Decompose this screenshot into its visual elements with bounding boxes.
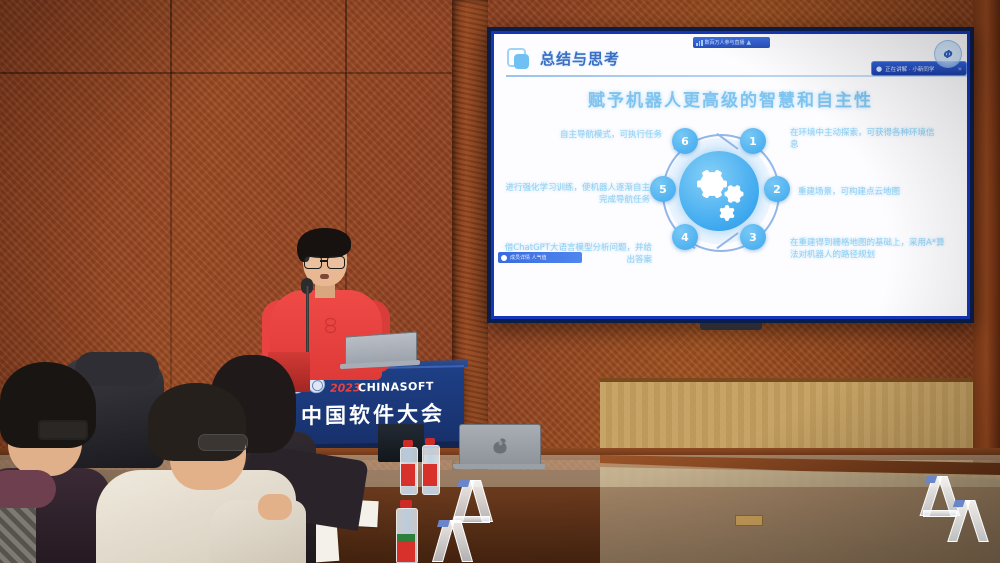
podium-year: 2023: [330, 381, 361, 395]
water-bottle: [422, 438, 438, 494]
broadcast-logo-icon: Φ: [934, 40, 962, 68]
podium-english-title: CHINASOFT: [358, 380, 434, 395]
audience-person-2-hand: [258, 494, 292, 520]
back-wall-trim: [600, 378, 1000, 382]
name-card-holder: [450, 480, 492, 522]
chevron-right-icon[interactable]: »: [958, 65, 962, 73]
avatar: [501, 255, 507, 261]
audience-person-1-scarf: [0, 470, 56, 508]
mic-icon: ●: [876, 65, 882, 73]
live-viewer-label: 数百万人参与直播: [705, 39, 745, 46]
member-info-badge[interactable]: 成员详情 人气值: [498, 252, 582, 263]
slide-main-title: 赋予机器人更高级的智慧和自主性: [494, 86, 967, 111]
wall-pillar-right: [973, 0, 1000, 470]
presentation-display: 总结与思考 赋予机器人更高级的智慧和自主性 自主导航模式，可执行任务 进行强化学…: [487, 27, 974, 323]
bar-chart-icon: [696, 40, 703, 46]
audience-person-2-glasses: [198, 434, 248, 451]
circular-process-diagram: 1 2 3 4 5 6: [654, 126, 784, 256]
callout-text-1: 在环境中主动探索，可获得各种环境信息: [790, 127, 940, 151]
water-bottle: [396, 500, 416, 563]
speaker-glasses: [303, 256, 347, 268]
gears-icon: [697, 169, 727, 199]
gear-small-icon: [725, 185, 743, 203]
callout-text-6: 自主导航模式，可执行任务: [512, 129, 662, 141]
diagram-node-1[interactable]: 1: [740, 128, 766, 154]
diagram-node-4[interactable]: 4: [672, 224, 698, 250]
shirt-logo-icon: [325, 318, 334, 332]
slide-surface: 总结与思考 赋予机器人更高级的智慧和自主性 自主导航模式，可执行任务 进行强化学…: [494, 34, 967, 316]
callout-text-5: 进行强化学习训练，使机器人逐渐自主完成导航任务: [502, 182, 650, 206]
callout-text-3: 在重建得到栅格地图的基础上，采用A*算法对机器人的路径规划: [790, 237, 946, 261]
now-speaking-label: 正在讲解 · 小新同学: [885, 65, 934, 73]
podium-chinese-title: 中国软件大会: [282, 397, 464, 431]
table-plaque: [735, 515, 763, 526]
name-card-holder: [948, 500, 988, 544]
display-stand: [700, 323, 762, 330]
slide-header-title: 总结与思考: [540, 48, 620, 69]
audience-person-1-glasses: [38, 420, 88, 440]
display-bezel: 总结与思考 赋予机器人更高级的智慧和自主性 自主导航模式，可执行任务 进行强化学…: [491, 31, 970, 319]
live-viewer-badge[interactable]: 数百万人参与直播 ▲: [693, 37, 770, 48]
share-icon[interactable]: ▲: [747, 39, 752, 46]
name-card-holder: [430, 520, 472, 563]
apple-logo-icon: [494, 439, 507, 454]
diagram-node-3[interactable]: 3: [740, 224, 766, 250]
diagram-center-disc: [679, 151, 759, 231]
diagram-node-6[interactable]: 6: [672, 128, 698, 154]
rounded-square-icon: [507, 48, 531, 70]
callout-text-2: 重建场景，可构建点云地图: [798, 186, 948, 198]
microphone-stem: [306, 286, 309, 362]
water-bottle: [400, 440, 416, 494]
macbook-base: [453, 464, 545, 469]
gear-tiny-icon: [719, 205, 734, 220]
screenshot-root: 总结与思考 赋予机器人更高级的智慧和自主性 自主导航模式，可执行任务 进行强化学…: [0, 0, 1000, 563]
speaker-mouth: [320, 274, 329, 279]
diagram-node-5[interactable]: 5: [650, 176, 676, 202]
diagram-node-2[interactable]: 2: [764, 176, 790, 202]
macbook-laptop: [459, 424, 541, 468]
member-info-label: 成员详情 人气值: [510, 254, 547, 261]
